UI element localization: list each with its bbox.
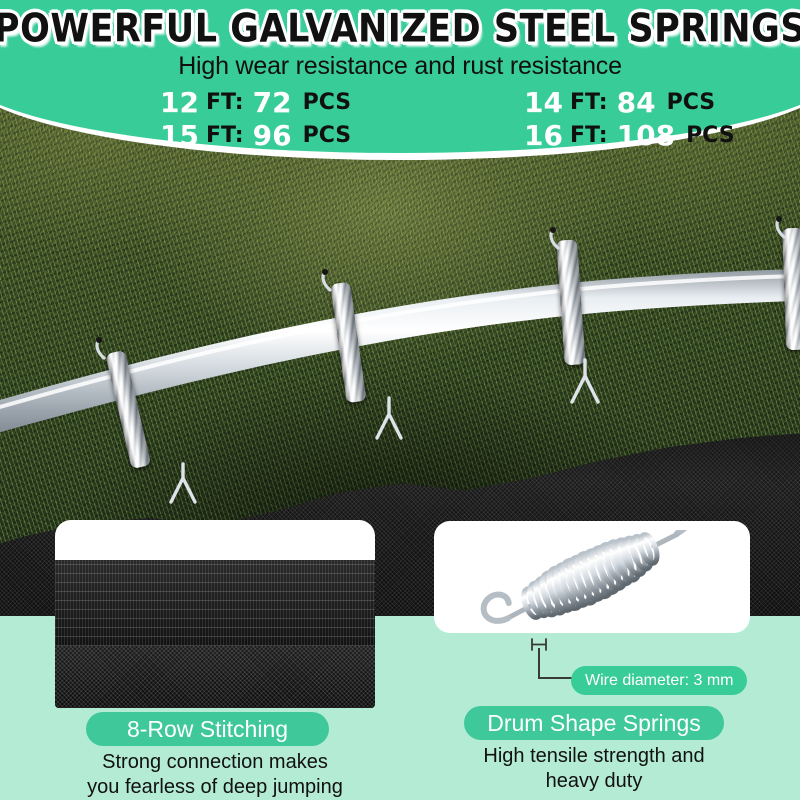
spec-row: 15 FT: 96 PCS 16 FT: 108 PCS [0, 119, 800, 152]
spec-item-14ft: 14 FT: 84 PCS [436, 86, 800, 119]
wire-diameter-callout: Wire diameter: 3 mm [571, 666, 747, 695]
spec-table: 12 FT: 72 PCS 14 FT: 84 PCS 15 [0, 86, 800, 152]
frame-spring-2-bottom-clip [370, 396, 410, 442]
frame-spring-1-bottom-clip [165, 462, 205, 506]
infographic-canvas: Wire diameter: 3 mm POWERFUL GALVANIZED … [0, 0, 800, 800]
drum-spring-product-image [455, 530, 735, 625]
spec-size: 15 [160, 119, 199, 152]
spec-size: 12 [160, 86, 199, 119]
spec-pcs: PCS [667, 90, 716, 115]
spec-unit: FT: [206, 90, 244, 115]
frame-spring-3-bottom-clip [565, 358, 607, 406]
spec-pcs: PCS [303, 123, 352, 148]
frame-spring-2-top-hook [318, 268, 346, 294]
frame-spring-4-top-hook [772, 215, 800, 241]
feature-caption-stitching: Strong connection makes you fearless of … [35, 750, 395, 800]
spec-qty: 84 [617, 86, 656, 119]
frame-spring-1-top-hook [92, 336, 120, 362]
feature-label-stitching: 8-Row Stitching [86, 712, 329, 746]
spec-unit: FT: [206, 123, 244, 148]
spec-size: 14 [524, 86, 563, 119]
frame-spring-4 [782, 228, 800, 351]
wire-diameter-label: Wire diameter: 3 mm [585, 672, 733, 690]
spec-unit: FT: [570, 90, 608, 115]
page-subtitle: High wear resistance and rust resistance [0, 52, 800, 81]
webbing-mesh [55, 646, 375, 708]
caliper-marker-icon [528, 637, 550, 653]
caption-line-1: Strong connection makes [35, 750, 395, 775]
feature-caption-springs: High tensile strength and heavy duty [420, 744, 768, 794]
stitched-webbing-photo [55, 560, 375, 708]
spec-item-15ft: 15 FT: 96 PCS [0, 119, 436, 152]
feature-label-springs: Drum Shape Springs [464, 706, 724, 740]
frame-spring-3-top-hook [546, 226, 574, 252]
spec-size: 16 [524, 119, 563, 152]
spec-item-12ft: 12 FT: 72 PCS [0, 86, 436, 119]
webbing-belt [55, 560, 375, 646]
spec-qty: 72 [253, 86, 292, 119]
spec-pcs: PCS [303, 90, 352, 115]
spec-pcs: PCS [686, 123, 735, 148]
spec-unit: FT: [570, 123, 608, 148]
caption-line-2: heavy duty [420, 769, 768, 794]
spec-qty: 96 [253, 119, 292, 152]
caption-line-2: you fearless of deep jumping [35, 775, 395, 800]
spec-item-16ft: 16 FT: 108 PCS [436, 119, 800, 152]
spec-row: 12 FT: 72 PCS 14 FT: 84 PCS [0, 86, 800, 119]
page-title: POWERFUL GALVANIZED STEEL SPRINGS [0, 5, 800, 51]
spec-qty: 108 [617, 119, 675, 152]
header-banner: POWERFUL GALVANIZED STEEL SPRINGS High w… [0, 0, 800, 160]
caption-line-1: High tensile strength and [420, 744, 768, 769]
